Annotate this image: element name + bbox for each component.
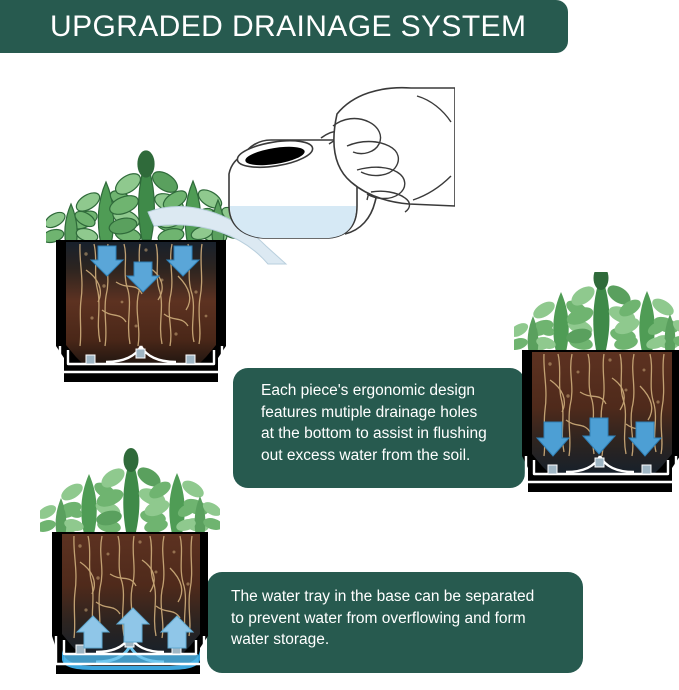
- callout-1-line-3: at the bottom to assist in flushing: [261, 423, 511, 445]
- header-banner: UPGRADED DRAINAGE SYSTEM: [0, 0, 568, 53]
- planter-draining: [514, 272, 679, 504]
- can-water: [230, 206, 356, 238]
- callout-2-line-3: water storage.: [231, 629, 567, 651]
- drainage-holes-callout: Each piece's ergonomic design features m…: [233, 368, 525, 488]
- water-flow-arrows-down: [537, 418, 661, 456]
- callout-2-line-1: The water tray in the base can be separa…: [231, 586, 567, 608]
- infographic-canvas: UPGRADED DRAINAGE SYSTEM: [0, 0, 679, 690]
- page-title: UPGRADED DRAINAGE SYSTEM: [50, 10, 526, 44]
- plant-foliage: [40, 448, 220, 536]
- callout-1-line-4: out excess water from the soil.: [261, 445, 511, 467]
- water-tray-callout: The water tray in the base can be separa…: [207, 572, 583, 673]
- callout-1-line-1: Each piece's ergonomic design: [261, 380, 511, 402]
- plant-foliage: [514, 272, 679, 354]
- callout-2-line-2: to prevent water from overflowing and fo…: [231, 608, 567, 630]
- planter-water-storage: [40, 448, 220, 686]
- callout-1-line-2: features mutiple drainage holes: [261, 402, 511, 424]
- hand-pouring-watering-can: [225, 78, 455, 278]
